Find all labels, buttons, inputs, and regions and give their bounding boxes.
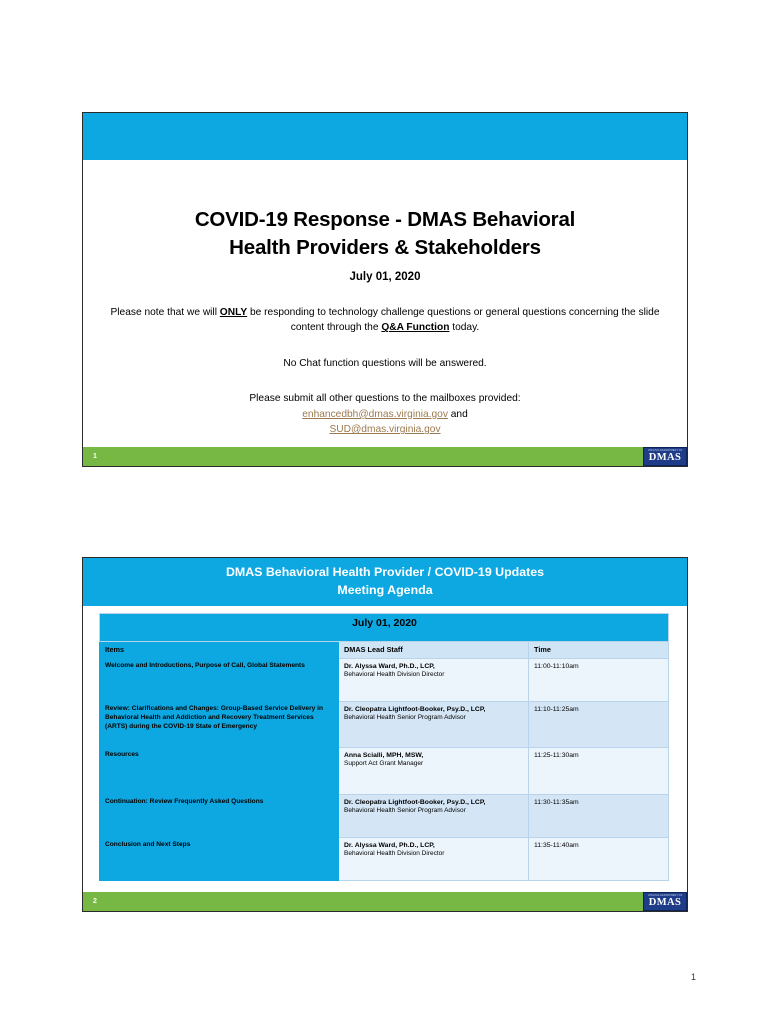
table-row: Resources Anna Scialli, MPH, MSW, Suppor… bbox=[100, 748, 669, 795]
row-time-3: 11:30-11:35am bbox=[529, 795, 669, 838]
row-staff-4: Dr. Alyssa Ward, Ph.D., LCP, Behavioral … bbox=[339, 838, 529, 881]
slide-1-footer: 1 VIRGINIA DEPARTMENT OF DMAS bbox=[83, 447, 687, 466]
slide-1-date: July 01, 2020 bbox=[109, 262, 661, 283]
para1-qa-emphasis: Q&A Function bbox=[381, 322, 449, 333]
agenda-date-cell: July 01, 2020 bbox=[100, 614, 669, 642]
para1-text-a: Please note that we will bbox=[111, 307, 220, 318]
row-staff-role-0: Behavioral Health Division Director bbox=[344, 671, 524, 680]
row-item-1: Review: Clarifications and Changes: Grou… bbox=[100, 702, 339, 748]
agenda-table: July 01, 2020 Items DMAS Lead Staff Time… bbox=[99, 613, 669, 881]
row-staff-role-4: Behavioral Health Division Director bbox=[344, 850, 524, 859]
slide-1-paragraph-3: Please submit all other questions to the… bbox=[109, 371, 661, 407]
row-staff-0: Dr. Alyssa Ward, Ph.D., LCP, Behavioral … bbox=[339, 659, 529, 702]
agenda-date-row: July 01, 2020 bbox=[100, 614, 669, 642]
dmas-logo-tagline: VIRGINIA DEPARTMENT OF bbox=[648, 895, 682, 897]
email-conjunction: and bbox=[448, 409, 468, 420]
row-staff-name-2: Anna Scialli, MPH, MSW, bbox=[344, 751, 524, 760]
dmas-logo: VIRGINIA DEPARTMENT OF DMAS bbox=[643, 892, 687, 911]
slide-1-email-line-2: SUD@dmas.virginia.gov bbox=[109, 422, 661, 438]
slide-2-header-line-1: DMAS Behavioral Health Provider / COVID-… bbox=[226, 564, 544, 582]
column-header-time: Time bbox=[529, 642, 669, 659]
table-row: Review: Clarifications and Changes: Grou… bbox=[100, 702, 669, 748]
agenda-column-header-row: Items DMAS Lead Staff Time bbox=[100, 642, 669, 659]
row-time-4: 11:35-11:40am bbox=[529, 838, 669, 881]
dmas-logo-wordmark: DMAS bbox=[649, 453, 682, 464]
row-staff-role-2: Support Act Grant Manager bbox=[344, 760, 524, 769]
slide-2-footer-number: 2 bbox=[83, 898, 97, 905]
table-row: Conclusion and Next Steps Dr. Alyssa War… bbox=[100, 838, 669, 881]
slide-1: COVID-19 Response - DMAS Behavioral Heal… bbox=[82, 112, 688, 467]
slide-1-body: COVID-19 Response - DMAS Behavioral Heal… bbox=[83, 160, 687, 444]
row-staff-name-3: Dr. Cleopatra Lightfoot-Booker, Psy.D., … bbox=[344, 798, 524, 807]
row-item-0: Welcome and Introductions, Purpose of Ca… bbox=[100, 659, 339, 702]
row-staff-2: Anna Scialli, MPH, MSW, Support Act Gran… bbox=[339, 748, 529, 795]
slide-1-title: COVID-19 Response - DMAS Behavioral Heal… bbox=[109, 160, 661, 262]
row-staff-name-0: Dr. Alyssa Ward, Ph.D., LCP, bbox=[344, 662, 524, 671]
table-row: Welcome and Introductions, Purpose of Ca… bbox=[100, 659, 669, 702]
dmas-logo-wordmark: DMAS bbox=[649, 898, 682, 909]
row-staff-name-1: Dr. Cleopatra Lightfoot-Booker, Psy.D., … bbox=[344, 705, 524, 714]
agenda-table-wrapper: July 01, 2020 Items DMAS Lead Staff Time… bbox=[83, 606, 687, 881]
row-staff-role-1: Behavioral Health Senior Program Advisor bbox=[344, 714, 524, 723]
dmas-logo: VIRGINIA DEPARTMENT OF DMAS bbox=[643, 447, 687, 466]
row-staff-3: Dr. Cleopatra Lightfoot-Booker, Psy.D., … bbox=[339, 795, 529, 838]
dmas-logo-tagline: VIRGINIA DEPARTMENT OF bbox=[648, 450, 682, 452]
para1-text-c: today. bbox=[449, 322, 479, 333]
page-number: 1 bbox=[691, 972, 696, 982]
row-item-2: Resources bbox=[100, 748, 339, 795]
slide-1-title-line-2: Health Providers & Stakeholders bbox=[229, 236, 541, 259]
email-link-sud[interactable]: SUD@dmas.virginia.gov bbox=[329, 424, 440, 435]
slide-1-paragraph-2: No Chat function questions will be answe… bbox=[109, 336, 661, 372]
column-header-items: Items bbox=[100, 642, 339, 659]
row-staff-1: Dr. Cleopatra Lightfoot-Booker, Psy.D., … bbox=[339, 702, 529, 748]
email-link-enhancedbh[interactable]: enhancedbh@dmas.virginia.gov bbox=[302, 409, 448, 420]
slide-1-paragraph-1: Please note that we will ONLY be respond… bbox=[109, 283, 661, 336]
table-row: Continuation: Review Frequently Asked Qu… bbox=[100, 795, 669, 838]
slide-1-top-band bbox=[83, 113, 687, 160]
slide-2-footer: 2 VIRGINIA DEPARTMENT OF DMAS bbox=[83, 892, 687, 911]
row-staff-name-4: Dr. Alyssa Ward, Ph.D., LCP, bbox=[344, 841, 524, 850]
para1-only-emphasis: ONLY bbox=[220, 307, 247, 318]
row-staff-role-3: Behavioral Health Senior Program Advisor bbox=[344, 807, 524, 816]
slide-2-header: DMAS Behavioral Health Provider / COVID-… bbox=[83, 558, 687, 606]
column-header-staff: DMAS Lead Staff bbox=[339, 642, 529, 659]
slide-2-header-line-2: Meeting Agenda bbox=[337, 582, 432, 600]
row-time-1: 11:10-11:25am bbox=[529, 702, 669, 748]
row-item-3: Continuation: Review Frequently Asked Qu… bbox=[100, 795, 339, 838]
row-item-4: Conclusion and Next Steps bbox=[100, 838, 339, 881]
slide-1-email-line-1: enhancedbh@dmas.virginia.gov and bbox=[109, 407, 661, 423]
row-time-2: 11:25-11:30am bbox=[529, 748, 669, 795]
slide-1-title-line-1: COVID-19 Response - DMAS Behavioral bbox=[195, 208, 575, 231]
slide-2: DMAS Behavioral Health Provider / COVID-… bbox=[82, 557, 688, 912]
row-time-0: 11:00-11:10am bbox=[529, 659, 669, 702]
slide-1-footer-number: 1 bbox=[83, 453, 97, 460]
